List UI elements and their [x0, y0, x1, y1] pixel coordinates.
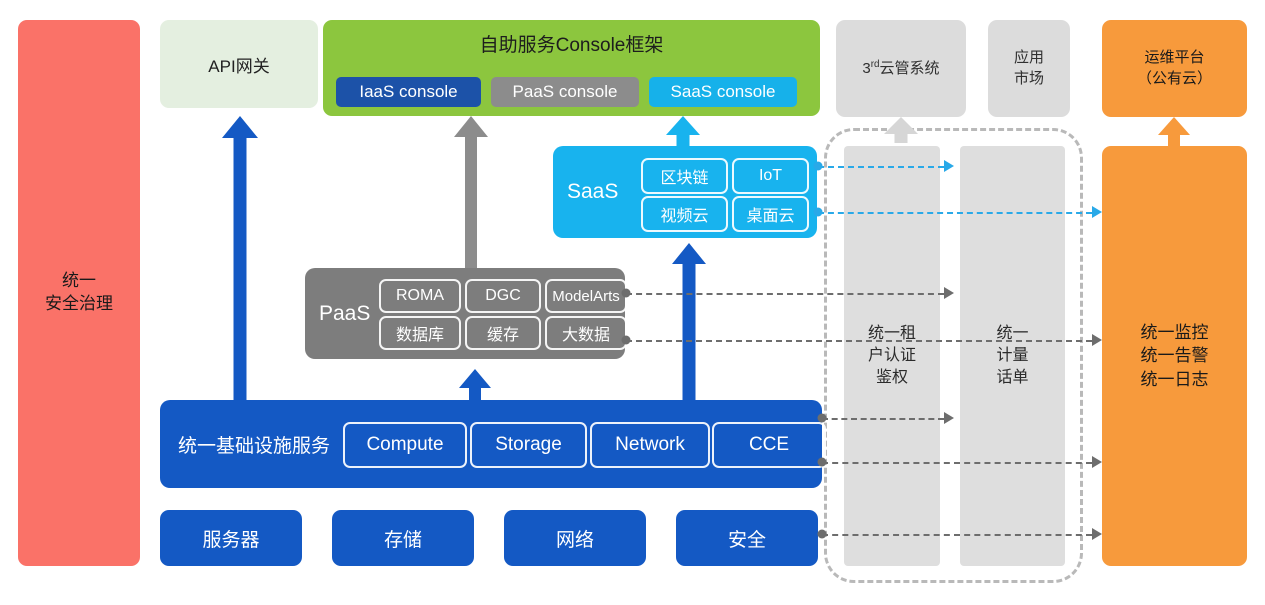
saas-console-chip[interactable]: SaaS console — [649, 77, 797, 107]
saas-service-video-cloud[interactable]: 视频云 — [641, 196, 728, 232]
shared-service-1-line2: 计量 — [996, 345, 1028, 367]
arrow-saas-to-console — [666, 116, 700, 148]
paas-service-dgc[interactable]: DGC — [465, 279, 541, 313]
saas-service-desktop-cloud[interactable]: 桌面云 — [732, 196, 809, 232]
arrowhead-paas-to-auth — [944, 287, 954, 299]
ops-platform-public-cloud-box[interactable]: 运维平台 （公有云） — [1102, 20, 1247, 117]
resource-network-label: 网络 — [556, 525, 594, 552]
resource-box-security[interactable]: 安全 — [676, 510, 818, 566]
resource-box-server[interactable]: 服务器 — [160, 510, 302, 566]
right-panel-line3: 统一日志 — [1141, 368, 1209, 391]
infra-service-cce[interactable]: CCE — [712, 422, 826, 468]
arrowhead-infra-to-ops — [1092, 456, 1102, 468]
infrastructure-label: 统一基础设施服务 — [178, 400, 330, 488]
resource-storage-label: 存储 — [384, 525, 422, 552]
app-market-box[interactable]: 应用 市场 — [988, 20, 1070, 117]
paas-console-label: PaaS console — [513, 82, 618, 102]
api-gateway-box[interactable]: API网关 — [160, 20, 318, 108]
infra-service-network[interactable]: Network — [590, 422, 710, 468]
architecture-diagram: 统一 安全治理 API网关 自助服务Console框架 IaaS console… — [0, 0, 1265, 605]
dashed-resources-to-ops — [822, 534, 1092, 536]
unified-metering-billing-column[interactable]: 统一 计量 话单 — [960, 146, 1065, 566]
arrowhead-resources-to-ops — [1092, 528, 1102, 540]
third-party-suffix: 云管系统 — [880, 60, 940, 77]
shared-service-0-line3: 鉴权 — [876, 367, 908, 389]
third-party-cloud-mgmt-box[interactable]: 3rd云管系统 — [836, 20, 966, 117]
arrow-ops-panel-to-ops-platform — [1158, 117, 1190, 147]
resource-security-label: 安全 — [728, 525, 766, 552]
dashed-paas-to-auth — [626, 293, 944, 295]
arrow-envelope-to-third-party — [884, 117, 918, 143]
arrowhead-saas-to-ops — [1092, 206, 1102, 218]
ops-platform-line2: （公有云） — [1137, 69, 1212, 89]
third-party-cloud-mgmt-label: 3rd云管系统 — [862, 58, 939, 79]
third-party-superscript: rd — [871, 59, 880, 70]
api-gateway-label: API网关 — [208, 52, 269, 77]
dashed-infra-to-ops — [822, 462, 1092, 464]
dashed-infra-to-auth — [822, 418, 944, 420]
dashed-saas-to-ops — [818, 212, 1092, 214]
paas-console-chip[interactable]: PaaS console — [491, 77, 639, 107]
paas-service-roma[interactable]: ROMA — [379, 279, 461, 313]
arrow-infra-to-api-gateway — [222, 116, 258, 400]
third-party-prefix: 3 — [862, 60, 870, 77]
unified-security-governance-panel: 统一 安全治理 — [18, 20, 140, 566]
paas-service-bigdata[interactable]: 大数据 — [545, 316, 627, 350]
arrowhead-paas-to-ops — [1092, 334, 1102, 346]
arrow-paas-to-console — [454, 116, 488, 268]
left-panel-line1: 统一 — [62, 270, 96, 293]
unified-infrastructure-block: 统一基础设施服务 Compute Storage Network CCE — [160, 400, 822, 488]
dashed-paas-to-ops — [626, 340, 1092, 342]
saas-console-label: SaaS console — [671, 82, 776, 102]
resource-server-label: 服务器 — [202, 525, 259, 552]
console-framework-title: 自助服务Console框架 — [323, 30, 820, 57]
shared-service-1-line3: 话单 — [996, 367, 1028, 389]
infra-service-storage[interactable]: Storage — [470, 422, 587, 468]
iaas-console-chip[interactable]: IaaS console — [336, 77, 481, 107]
arrow-infra-to-saas — [672, 243, 706, 401]
shared-service-0-line2: 户认证 — [868, 345, 916, 367]
unified-tenant-auth-column[interactable]: 统一租 户认证 鉴权 — [844, 146, 940, 566]
right-panel-line1: 统一监控 — [1141, 321, 1209, 344]
arrowhead-saas-to-auth — [944, 160, 954, 172]
paas-block: PaaS ROMA DGC ModelArts 数据库 缓存 大数据 — [305, 268, 625, 359]
saas-service-blockchain[interactable]: 区块链 — [641, 158, 728, 194]
dashed-saas-to-auth — [818, 166, 944, 168]
right-panel-line2: 统一告警 — [1141, 344, 1209, 367]
resource-box-network[interactable]: 网络 — [504, 510, 646, 566]
resource-box-storage[interactable]: 存储 — [332, 510, 474, 566]
self-service-console-framework: 自助服务Console框架 IaaS console PaaS console … — [323, 20, 820, 116]
paas-service-modelarts[interactable]: ModelArts — [545, 279, 627, 313]
iaas-console-label: IaaS console — [359, 82, 457, 102]
paas-service-cache[interactable]: 缓存 — [465, 316, 541, 350]
infra-service-compute[interactable]: Compute — [343, 422, 467, 468]
unified-monitoring-panel: 统一监控 统一告警 统一日志 — [1102, 146, 1247, 566]
saas-block: SaaS 区块链 IoT 视频云 桌面云 — [553, 146, 817, 238]
arrow-infra-to-paas — [459, 369, 491, 401]
left-panel-line2: 安全治理 — [45, 293, 113, 316]
saas-service-iot[interactable]: IoT — [732, 158, 809, 194]
app-market-line1: 应用 — [1014, 48, 1044, 68]
app-market-line2: 市场 — [1014, 69, 1044, 89]
paas-label: PaaS — [319, 268, 370, 359]
saas-label: SaaS — [567, 146, 618, 238]
ops-platform-line1: 运维平台 — [1144, 48, 1204, 68]
arrowhead-infra-to-auth — [944, 412, 954, 424]
paas-service-database[interactable]: 数据库 — [379, 316, 461, 350]
